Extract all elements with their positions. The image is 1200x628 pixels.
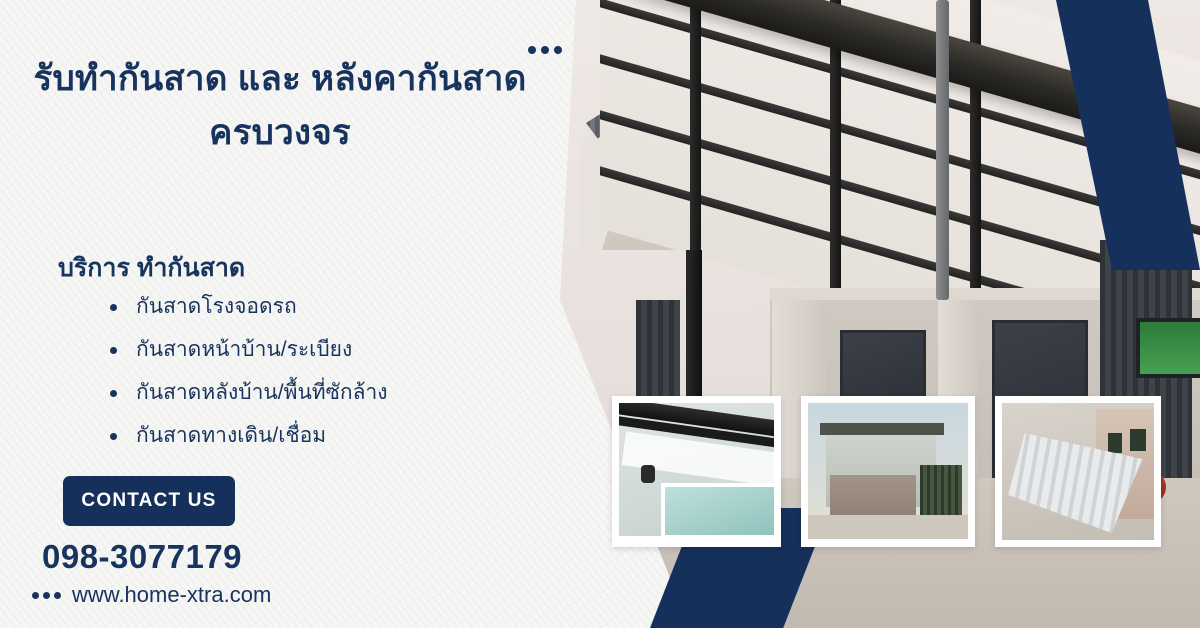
phone-number[interactable]: 098-3077179 [42,538,242,576]
thumbnail-image-1 [619,403,774,536]
thumbnail-gallery [612,396,1161,547]
content-panel: รับทำกันสาด และ หลังคากันสาด ครบวงจร บริ… [0,0,570,628]
services-list: กันสาดโรงจอดรถ กันสาดหน้าบ้าน/ระเบียง กั… [108,296,388,468]
list-item: กันสาดโรงจอดรถ [108,296,388,317]
dots-decoration-icon [528,46,562,54]
website-url: www.home-xtra.com [72,582,271,608]
promotional-banner: รับทำกันสาด และ หลังคากันสาด ครบวงจร บริ… [0,0,1200,628]
list-item: กันสาดหลังบ้าน/พื้นที่ซักล้าง [108,382,388,403]
headline-line-1: รับทำกันสาด และ หลังคากันสาด [34,59,527,98]
road [808,515,968,539]
list-item: กันสาดทางเดิน/เชื่อม [108,425,388,446]
gallery-thumbnail[interactable] [801,396,975,547]
wall-window [1108,433,1122,453]
wall-window [1130,429,1146,451]
gallery-thumbnail[interactable] [995,396,1161,547]
gate [920,465,962,519]
page-title: รับทำกันสาด และ หลังคากันสาด ครบวงจร [0,52,560,161]
downpipe [936,0,949,300]
dots-bullet-icon [32,592,61,599]
list-item: กันสาดหน้าบ้าน/ระเบียง [108,339,388,360]
contact-us-button[interactable]: CONTACT US [63,476,235,526]
security-camera [641,465,655,483]
thumbnail-image-2 [808,403,968,539]
services-subheading: บริการ ทำกันสาด [58,248,245,288]
thumbnail-image-3 [1002,403,1154,540]
canopy-rafter [690,0,701,257]
headline-line-2: ครบวงจร [0,106,560,160]
green-window [1136,318,1200,378]
house-roof [820,423,944,435]
website-link[interactable]: www.home-xtra.com [32,582,271,608]
gallery-thumbnail[interactable] [612,396,781,547]
glass-window [661,483,774,536]
